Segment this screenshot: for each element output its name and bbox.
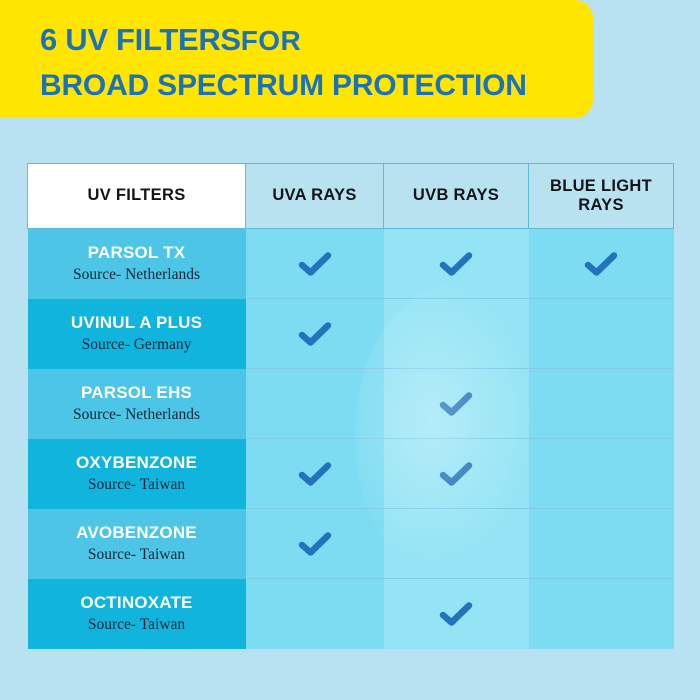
- uvb-cell: [384, 579, 529, 649]
- table-row: PARSOL TXSource- Netherlands: [28, 229, 674, 299]
- filter-source: Source- Netherlands: [36, 405, 238, 424]
- uva-cell: [246, 509, 384, 579]
- filter-source: Source- Germany: [36, 335, 238, 354]
- banner-title-strong: 6 UV FILTERS: [40, 22, 241, 57]
- blue-light-cell: [529, 439, 674, 509]
- check-icon: [439, 601, 473, 627]
- filter-name-cell: AVOBENZONESource- Taiwan: [28, 509, 246, 579]
- column-header-uv-filters: UV FILTERS: [28, 164, 246, 229]
- blue-light-cell: [529, 299, 674, 369]
- banner-title-line-1: 6 UV FILTERSFOR: [40, 22, 593, 59]
- filter-source: Source- Taiwan: [36, 615, 238, 634]
- check-icon: [439, 251, 473, 277]
- check-icon: [298, 251, 332, 277]
- blue-light-cell: [529, 229, 674, 299]
- table-row: PARSOL EHSSource- Netherlands: [28, 369, 674, 439]
- filter-source: Source- Taiwan: [36, 475, 238, 494]
- check-icon: [298, 321, 332, 347]
- filter-name: PARSOL EHS: [36, 383, 238, 403]
- filter-name-cell: OXYBENZONESource- Taiwan: [28, 439, 246, 509]
- filter-name: PARSOL TX: [36, 243, 238, 263]
- uva-cell: [246, 299, 384, 369]
- banner-title-line-2: BROAD SPECTRUM PROTECTION: [40, 68, 593, 103]
- filter-name-cell: UVINUL A PLUSSource- Germany: [28, 299, 246, 369]
- table-row: UVINUL A PLUSSource- Germany: [28, 299, 674, 369]
- check-icon: [439, 391, 473, 417]
- check-icon: [298, 531, 332, 557]
- uvb-cell: [384, 439, 529, 509]
- filter-name: OCTINOXATE: [36, 593, 238, 613]
- uvb-cell: [384, 369, 529, 439]
- blue-light-cell: [529, 509, 674, 579]
- uv-filters-table: UV FILTERS UVA RAYS UVB RAYS BLUE LIGHT …: [27, 163, 674, 649]
- blue-light-cell: [529, 369, 674, 439]
- table-header-row: UV FILTERS UVA RAYS UVB RAYS BLUE LIGHT …: [28, 164, 674, 229]
- uvb-cell: [384, 299, 529, 369]
- table-header: UV FILTERS UVA RAYS UVB RAYS BLUE LIGHT …: [28, 164, 674, 229]
- uva-cell: [246, 229, 384, 299]
- uvb-cell: [384, 229, 529, 299]
- header-banner: 6 UV FILTERSFOR BROAD SPECTRUM PROTECTIO…: [0, 0, 593, 118]
- table-row: AVOBENZONESource- Taiwan: [28, 509, 674, 579]
- check-icon: [439, 461, 473, 487]
- filter-name-cell: PARSOL TXSource- Netherlands: [28, 229, 246, 299]
- filter-name-cell: OCTINOXATESource- Taiwan: [28, 579, 246, 649]
- column-header-uvb-rays: UVB RAYS: [384, 164, 529, 229]
- infographic-page: 6 UV FILTERSFOR BROAD SPECTRUM PROTECTIO…: [0, 0, 700, 700]
- banner-title-light: FOR: [241, 25, 301, 56]
- filter-source: Source- Taiwan: [36, 545, 238, 564]
- uva-cell: [246, 579, 384, 649]
- uva-cell: [246, 439, 384, 509]
- table-body: PARSOL TXSource- NetherlandsUVINUL A PLU…: [28, 229, 674, 649]
- table-row: OCTINOXATESource- Taiwan: [28, 579, 674, 649]
- table-row: OXYBENZONESource- Taiwan: [28, 439, 674, 509]
- check-icon: [298, 461, 332, 487]
- filter-name: OXYBENZONE: [36, 453, 238, 473]
- column-header-blue-light-rays: BLUE LIGHT RAYS: [529, 164, 674, 229]
- check-icon: [584, 251, 618, 277]
- column-header-uva-rays: UVA RAYS: [246, 164, 384, 229]
- filter-name: AVOBENZONE: [36, 523, 238, 543]
- filter-name-cell: PARSOL EHSSource- Netherlands: [28, 369, 246, 439]
- uvb-cell: [384, 509, 529, 579]
- filter-name: UVINUL A PLUS: [36, 313, 238, 333]
- blue-light-cell: [529, 579, 674, 649]
- uva-cell: [246, 369, 384, 439]
- filter-source: Source- Netherlands: [36, 265, 238, 284]
